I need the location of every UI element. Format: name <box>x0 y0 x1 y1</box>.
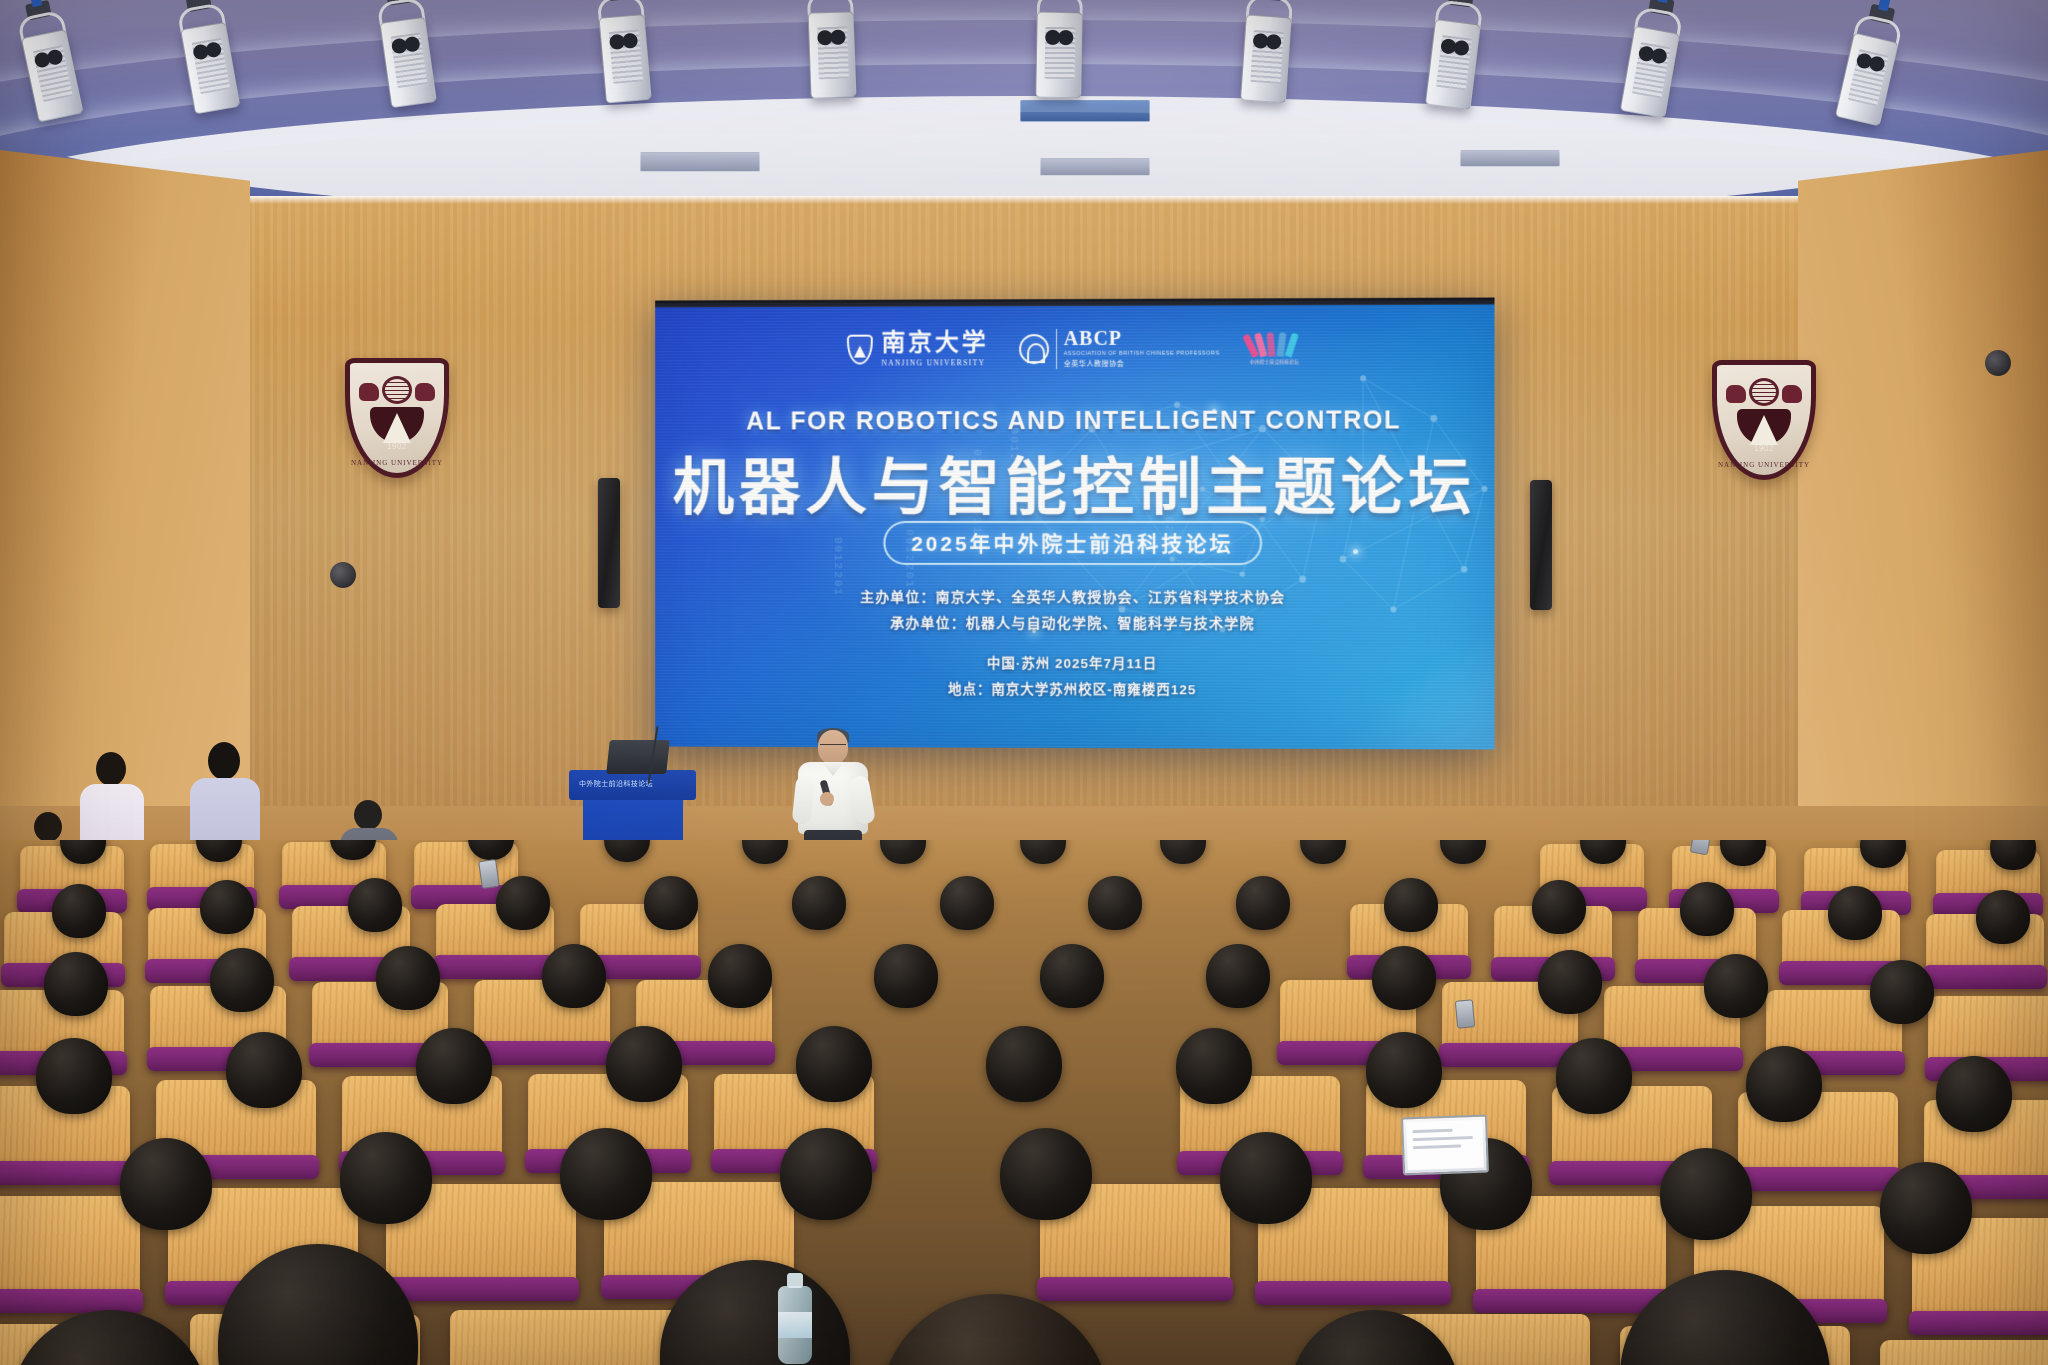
audience-seating-area <box>0 840 2048 1365</box>
audience-phone-1 <box>478 859 500 889</box>
abcp-acronym: ABCP <box>1064 329 1220 349</box>
audience-head <box>606 1026 682 1102</box>
audience-head <box>1746 1046 1822 1122</box>
laptop-screen <box>1406 1120 1484 1171</box>
water-bottle <box>778 1286 812 1364</box>
event-location-line: 地点：南京大学苏州校区-南雍楼西125 <box>655 676 1494 705</box>
audience-head <box>1532 880 1586 934</box>
crest-year-left: 1902 <box>350 442 444 451</box>
audience-head <box>1206 944 1270 1008</box>
audience-head <box>874 944 938 1008</box>
audience-head <box>210 948 274 1012</box>
audience-head <box>1660 1148 1752 1240</box>
forum-emblem-caption: 中外院士前沿科技论坛 <box>1250 360 1299 367</box>
audience-head <box>1236 876 1290 930</box>
screen-glow-dot-3 <box>1353 549 1358 554</box>
led-presentation-screen: 01220100110 10012201011 0012201 0012201 … <box>655 297 1494 749</box>
audience-head <box>1176 1028 1252 1104</box>
forum-emblem-logo: 中外院士前沿科技论坛 <box>1250 331 1299 367</box>
audience-phone-3 <box>1455 999 1475 1028</box>
audience-head <box>1384 878 1438 932</box>
audience-head <box>496 876 550 930</box>
audience-head <box>1936 1056 2012 1132</box>
attendee-head <box>34 812 62 842</box>
presenter-glasses <box>820 744 846 750</box>
screen-organizers: 主办单位：南京大学、全英华人教授协会、江苏省科学技术协会 承办单位：机器人与自动… <box>655 585 1494 638</box>
audience-head <box>416 1028 492 1104</box>
audience-head <box>986 1026 1062 1102</box>
abcp-logo: ABCP ASSOCIATION OF BRITISH CHINESE PROF… <box>1019 329 1220 370</box>
audience-head <box>226 1032 302 1108</box>
audience-head <box>644 876 698 930</box>
nju-crest-left: 1902 NANJING UNIVERSITY <box>345 358 449 478</box>
seat <box>450 1310 680 1365</box>
screen-logo-row: 南京大学 NANJING UNIVERSITY ABCP ASSOCIATION… <box>655 328 1494 370</box>
audience-head <box>708 944 772 1008</box>
nju-crest-right: 1902 NANJING UNIVERSITY <box>1712 360 1816 480</box>
audience-head <box>1976 890 2030 944</box>
screen-subtitle-badge: 2025年中外院士前沿科技论坛 <box>883 521 1261 565</box>
screen-event-details: 中国·苏州 2025年7月11日 地点：南京大学苏州校区-南雍楼西125 <box>655 650 1494 705</box>
audience-head <box>1088 876 1142 930</box>
audience-head <box>796 1026 872 1102</box>
auditorium-photo: 1902 NANJING UNIVERSITY 1902 NANJING UNI… <box>0 0 2048 1365</box>
audience-head <box>44 952 108 1016</box>
presenter-hand <box>820 792 834 806</box>
seat <box>1880 1340 2048 1365</box>
audience-head <box>1556 1038 1632 1114</box>
crest-name-right: NANJING UNIVERSITY <box>1717 461 1811 469</box>
lectern-monitor <box>606 740 670 774</box>
audience-head <box>1220 1132 1312 1224</box>
wall-speaker-left <box>598 478 620 608</box>
audience-head <box>1828 886 1882 940</box>
attendee-head <box>208 742 240 780</box>
abcp-seal-icon <box>1019 334 1049 364</box>
audience-head <box>1880 1162 1972 1254</box>
organizer-line-2: 承办单位：机器人与自动化学院、智能科学与技术学院 <box>655 610 1494 637</box>
audience-head <box>200 880 254 934</box>
nju-logo: 南京大学 NANJING UNIVERSITY <box>847 332 989 368</box>
audience-head <box>1000 1128 1092 1220</box>
audience-head <box>1040 944 1104 1008</box>
audience-head <box>340 1132 432 1224</box>
seat <box>0 1196 140 1300</box>
audience-head <box>1680 882 1734 936</box>
attendee-head <box>354 800 382 830</box>
audience-head <box>376 946 440 1010</box>
audience-head <box>542 944 606 1008</box>
organizer-line-1: 主办单位：南京大学、全英华人教授协会、江苏省科学技术协会 <box>655 585 1494 612</box>
lectern-banner-text: 中外院士前沿科技论坛 <box>579 779 688 791</box>
crest-year-right: 1902 <box>1717 444 1811 453</box>
nju-logo-cn: 南京大学 <box>881 332 988 356</box>
audience-head <box>36 1038 112 1114</box>
audience-head <box>348 878 402 932</box>
abcp-subtitle-cn: 全英华人教授协会 <box>1064 359 1220 369</box>
audience-head <box>1870 960 1934 1024</box>
audience-head <box>792 876 846 930</box>
crest-name-left: NANJING UNIVERSITY <box>350 459 444 467</box>
audience-head <box>1372 946 1436 1010</box>
abcp-subtitle-en: ASSOCIATION OF BRITISH CHINESE PROFESSOR… <box>1064 351 1220 357</box>
wall-top-highlight <box>0 196 2048 204</box>
audience-head <box>120 1138 212 1230</box>
screen-title-english: AL FOR ROBOTICS AND INTELLIGENT CONTROL <box>655 406 1494 436</box>
event-date-line: 中国·苏州 2025年7月11日 <box>655 650 1494 678</box>
audience-head <box>560 1128 652 1220</box>
fan-emblem-icon <box>1252 331 1296 357</box>
attendee-head <box>96 752 126 786</box>
audience-head <box>780 1128 872 1220</box>
wall-sensor <box>1985 350 2011 376</box>
nju-logo-en: NANJING UNIVERSITY <box>881 359 988 367</box>
wall-dome-camera <box>330 562 356 588</box>
audience-laptop-right <box>1401 1115 1489 1176</box>
audience-head <box>1704 954 1768 1018</box>
screen-title-chinese: 机器人与智能控制主题论坛 <box>655 436 1494 527</box>
seat <box>1928 996 2048 1068</box>
nju-shield-icon <box>847 335 873 365</box>
lectern-top: 中外院士前沿科技论坛 <box>569 770 696 800</box>
audience-head <box>1538 950 1602 1014</box>
audience-head <box>52 884 106 938</box>
audience-head <box>940 876 994 930</box>
audience-head <box>1366 1032 1442 1108</box>
wall-speaker-right <box>1530 480 1552 610</box>
